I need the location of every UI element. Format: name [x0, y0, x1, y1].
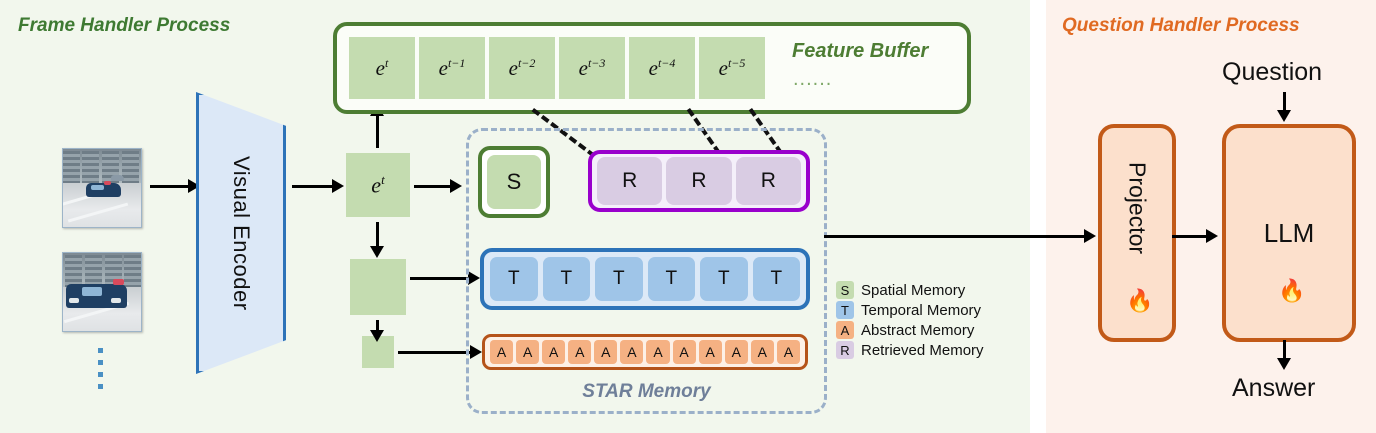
feature-buffer-title: Feature Buffer [792, 40, 928, 63]
fb-sup-0: t [385, 56, 388, 70]
arrow-to-abstract [398, 351, 472, 354]
flame-icon-projector: 🔥 [1126, 290, 1153, 312]
temporal-memory-group: T T T T T T [480, 248, 810, 310]
arrowhead-memory-to-projector [1084, 229, 1096, 243]
legend-swatch-abstract: A [836, 321, 854, 339]
legend-label-abstract: Abstract Memory [861, 322, 974, 339]
frame-handler-panel: Frame Handler Process Vis [0, 0, 1030, 433]
feature-buffer: et et−1 et−2 et−3 et−4 et−5 Feature Buff… [333, 22, 971, 114]
abstract-memory-cell: A [725, 340, 748, 364]
temporal-memory-cell: T [595, 257, 643, 301]
spatial-memory-cell: S [487, 155, 541, 209]
abstract-memory-cell: A [699, 340, 722, 364]
abstract-memory-cell: A [568, 340, 591, 364]
question-label: Question [1222, 58, 1322, 87]
legend-row-temporal: T Temporal Memory [836, 301, 984, 319]
feature-buffer-cell: et−2 [489, 37, 555, 99]
star-memory-label: STAR Memory [469, 381, 824, 403]
arrowhead-projector-to-llm [1206, 229, 1218, 243]
projector-block: Projector 🔥 [1098, 124, 1176, 342]
frames-continuation-dots [98, 348, 103, 396]
feature-buffer-cell: et−4 [629, 37, 695, 99]
feature-embedding-current: et [346, 153, 410, 217]
frame-handler-title: Frame Handler Process [18, 15, 230, 37]
fb-sup-4: t−4 [658, 56, 675, 70]
legend-row-spatial: S Spatial Memory [836, 281, 984, 299]
input-frame-1 [62, 148, 142, 228]
arrowhead-question-to-llm [1277, 110, 1291, 122]
legend-label-temporal: Temporal Memory [861, 302, 981, 319]
arrowhead-feature-down-2 [370, 330, 384, 342]
flame-icon-llm: 🔥 [1278, 280, 1305, 302]
projector-label: Projector [1124, 162, 1151, 254]
memory-legend: S Spatial Memory T Temporal Memory A Abs… [836, 281, 984, 359]
retrieved-memory-cell: R [666, 157, 731, 205]
visual-encoder-label: Visual Encoder [228, 156, 254, 311]
abstract-memory-cell: A [594, 340, 617, 364]
legend-swatch-temporal: T [836, 301, 854, 319]
spatial-memory-group: S [478, 146, 550, 218]
arrow-projector-to-llm [1172, 235, 1208, 238]
arrow-memory-to-projector [824, 235, 1086, 238]
abstract-memory-cell: A [516, 340, 539, 364]
arrow-feature-down-1 [376, 222, 379, 248]
fb-sup-2: t−2 [518, 56, 535, 70]
arrow-feature-to-buffer [376, 114, 379, 148]
abstract-memory-cell: A [542, 340, 565, 364]
legend-label-spatial: Spatial Memory [861, 282, 965, 299]
arrow-to-temporal [410, 277, 470, 280]
abstract-memory-cell: A [646, 340, 669, 364]
feature-buffer-cell: et−1 [419, 37, 485, 99]
arrowhead-encoder-to-feature [332, 179, 344, 193]
temporal-memory-cell: T [648, 257, 696, 301]
legend-row-abstract: A Abstract Memory [836, 321, 984, 339]
abstract-memory-cell: A [490, 340, 513, 364]
abstract-memory-cell: A [777, 340, 800, 364]
temporal-memory-cell: T [543, 257, 591, 301]
retrieved-memory-cell: R [736, 157, 801, 205]
arrowhead-to-spatial [450, 179, 462, 193]
retrieved-memory-group: R R R [588, 150, 810, 212]
temporal-memory-cell: T [753, 257, 801, 301]
fb-sup-1: t−1 [448, 56, 465, 70]
arrow-frames-to-encoder [150, 185, 190, 188]
legend-label-retrieved: Retrieved Memory [861, 342, 984, 359]
question-handler-title: Question Handler Process [1062, 15, 1300, 37]
abstract-memory-cell: A [620, 340, 643, 364]
arrowhead-feature-down-1 [370, 246, 384, 258]
answer-label: Answer [1232, 374, 1315, 403]
arrow-encoder-to-feature [292, 185, 334, 188]
temporal-memory-cell: T [700, 257, 748, 301]
legend-swatch-retrieved: R [836, 341, 854, 359]
abstract-memory-cell: A [673, 340, 696, 364]
feature-buffer-cell: et−5 [699, 37, 765, 99]
feature-buffer-cell: et−3 [559, 37, 625, 99]
llm-label: LLM [1264, 218, 1315, 249]
legend-row-retrieved: R Retrieved Memory [836, 341, 984, 359]
abstract-memory-cell: A [751, 340, 774, 364]
feature-embedding-mid [350, 259, 406, 315]
arrowhead-llm-to-answer [1277, 358, 1291, 370]
temporal-memory-cell: T [490, 257, 538, 301]
input-frame-2 [62, 252, 142, 332]
fb-sup-3: t−3 [588, 56, 605, 70]
llm-block: LLM 🔥 [1222, 124, 1356, 342]
feature-buffer-dots: ...... [793, 68, 832, 91]
feature-embedding-symbol: et [371, 172, 384, 198]
arrow-to-spatial [414, 185, 452, 188]
abstract-memory-group: A A A A A A A A A A A A [482, 334, 808, 370]
feature-buffer-cell: et [349, 37, 415, 99]
legend-swatch-spatial: S [836, 281, 854, 299]
fb-sup-5: t−5 [728, 56, 745, 70]
visual-encoder-block: Visual Encoder [196, 92, 286, 374]
retrieved-memory-cell: R [597, 157, 662, 205]
